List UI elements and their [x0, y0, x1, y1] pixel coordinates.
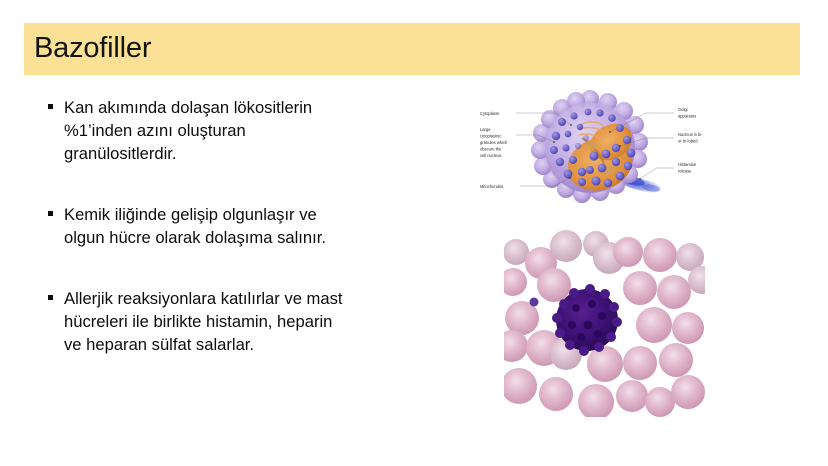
list-item-text: Kemik iliğinde gelişip olgunlaşır ve olg… — [64, 203, 448, 249]
label-histamine-line1: Histamine — [678, 162, 697, 167]
basophil-cell-diagram: Cytoplasm Large cytoplasmic granules whi… — [470, 82, 720, 214]
page-title: Bazofiller — [34, 32, 151, 65]
label-golgi-line2: apparatus — [678, 114, 696, 119]
label-large-granules-line1: Large — [480, 127, 491, 132]
label-large-granules-line5: cell nucleus — [480, 153, 501, 158]
list-item: Kan akımında dolaşan lökositlerin %1’ind… — [48, 96, 448, 165]
label-mitochondria: Mitochondria — [480, 184, 504, 189]
square-bullet-icon — [48, 211, 53, 216]
list-item-text: Allerjik reaksiyonlara katılırlar ve mas… — [64, 287, 448, 356]
label-nucleus-line1: Nucleus is bi- — [678, 132, 703, 137]
title-banner: Bazofiller — [24, 23, 800, 75]
bullet-list: Kan akımında dolaşan lökositlerin %1’ind… — [48, 96, 448, 356]
label-large-granules-line4: obscure the — [480, 147, 502, 152]
blood-smear-micrograph — [504, 230, 705, 417]
basophil-diagram-svg: Cytoplasm Large cytoplasmic granules whi… — [470, 82, 720, 214]
square-bullet-icon — [48, 104, 53, 109]
label-nucleus-line2: or tri-lobed — [678, 139, 698, 144]
square-bullet-icon — [48, 295, 53, 300]
label-golgi-line1: Golgi — [678, 107, 688, 112]
platelet-shape — [530, 298, 539, 307]
label-cytoplasm: Cytoplasm — [480, 111, 500, 116]
list-item: Allerjik reaksiyonlara katılırlar ve mas… — [48, 287, 448, 356]
label-large-granules-line3: granules which — [480, 140, 508, 145]
micrograph-svg — [504, 230, 705, 417]
label-histamine-line2: release — [678, 169, 692, 174]
label-large-granules-line2: cytoplasmic — [480, 134, 501, 139]
list-item-text: Kan akımında dolaşan lökositlerin %1’ind… — [64, 96, 448, 165]
list-item: Kemik iliğinde gelişip olgunlaşır ve olg… — [48, 203, 448, 249]
